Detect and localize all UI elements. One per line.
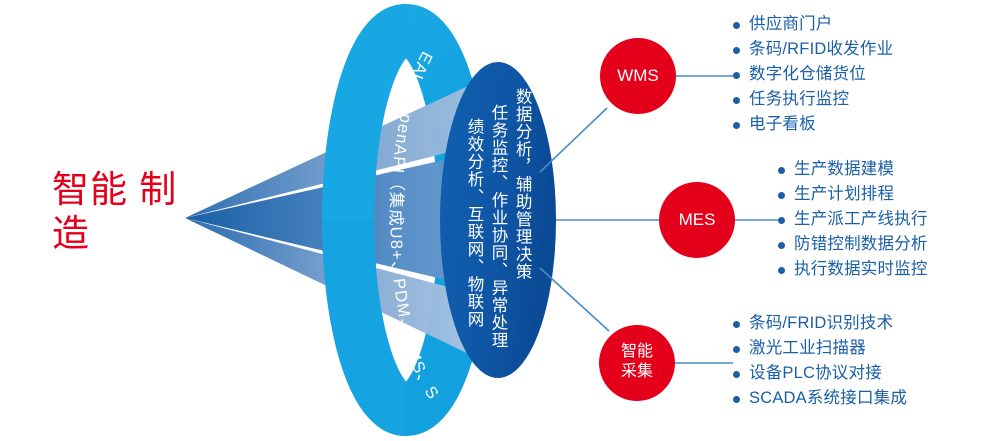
list-item: 生产计划排程 [778,186,928,203]
list-item-label: 任务执行监控 [749,91,849,108]
bullet-icon [733,396,740,403]
list-item-label: 供应商门户 [749,16,833,33]
list-item-label: 执行数据实时监控 [794,261,928,278]
diagram-canvas: EAI + OpenAPI（集成U8+、PDM、OMS、SCADA、SRM ..… [0,0,1000,441]
bullet-icon [733,47,740,54]
bullet-icon [778,242,785,249]
bullet-icon [778,267,785,274]
bullet-icon [733,122,740,129]
node-mes[interactable] [659,182,735,258]
list-item: 供应商门户 [733,16,893,33]
bullet-icon [778,217,785,224]
core-oval [440,62,556,378]
smart-collect-feature-list: 条码/FRID识别技术 激光工业扫描器 设备PLC协议对接 SCADA系统接口集… [733,315,907,415]
list-item: 条码/FRID识别技术 [733,315,907,332]
list-item-label: 电子看板 [749,116,816,133]
list-item-label: 条码/FRID识别技术 [749,315,893,332]
bullet-icon [733,321,740,328]
list-item-label: 条码/RFID收发作业 [749,41,893,58]
list-item-label: 设备PLC协议对接 [749,365,882,382]
list-item: 执行数据实时监控 [778,261,928,278]
list-item: 生产数据建模 [778,161,928,178]
list-item-label: 生产数据建模 [794,161,894,178]
list-item: 任务执行监控 [733,91,893,108]
wms-feature-list: 供应商门户 条码/RFID收发作业 数字化仓储货位 任务执行监控 电子看板 [733,16,893,141]
list-item: 激光工业扫描器 [733,340,907,357]
list-item-label: SCADA系统接口集成 [749,390,907,407]
bullet-icon [778,167,785,174]
bullet-icon [733,22,740,29]
page-title: 智能 制造 [52,168,212,255]
list-item: 设备PLC协议对接 [733,365,907,382]
node-wms[interactable] [600,38,676,114]
bullet-icon [733,72,740,79]
list-item: 条码/RFID收发作业 [733,41,893,58]
bullet-icon [733,346,740,353]
connector-core-wms [540,108,607,172]
mes-feature-list: 生产数据建模 生产计划排程 生产派工产线执行 防错控制数据分析 执行数据实时监控 [778,161,928,286]
bullet-icon [778,192,785,199]
list-item: 数字化仓储货位 [733,66,893,83]
list-item: SCADA系统接口集成 [733,390,907,407]
list-item: 电子看板 [733,116,893,133]
list-item-label: 数字化仓储货位 [749,66,866,83]
list-item-label: 激光工业扫描器 [749,340,866,357]
bullet-icon [733,371,740,378]
list-item: 生产派工产线执行 [778,211,928,228]
list-item-label: 生产计划排程 [794,186,894,203]
list-item: 防错控制数据分析 [778,236,928,253]
list-item-label: 防错控制数据分析 [794,236,928,253]
node-smart-collect[interactable] [599,325,675,401]
list-item-label: 生产派工产线执行 [794,211,928,228]
bullet-icon [733,97,740,104]
connector-core-smart-collect [540,268,609,331]
